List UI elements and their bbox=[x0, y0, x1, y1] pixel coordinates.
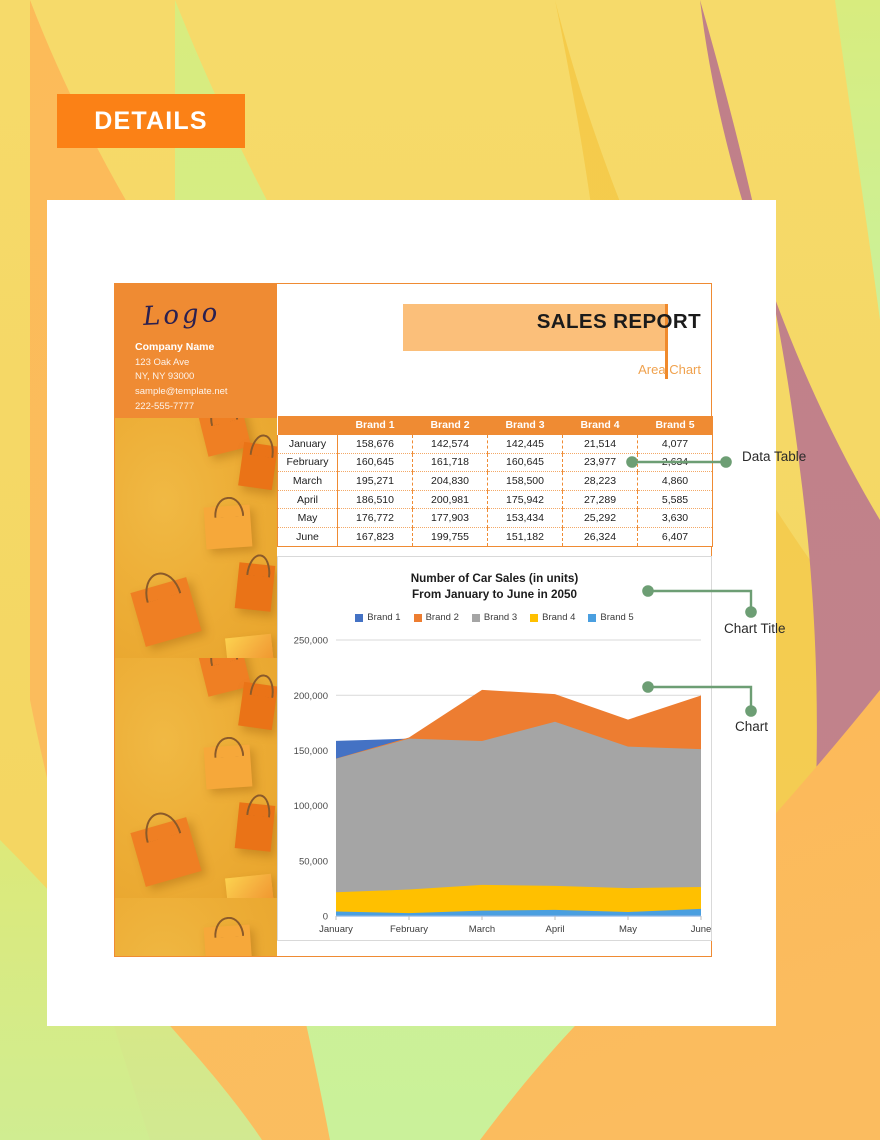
table-cell: 200,981 bbox=[413, 490, 488, 509]
table-row-label: January bbox=[278, 435, 338, 454]
table-col-header: Brand 4 bbox=[563, 416, 638, 435]
table-corner-cell bbox=[278, 416, 338, 435]
legend-item-brand-5[interactable]: Brand 5 bbox=[588, 612, 633, 623]
table-cell: 4,860 bbox=[638, 472, 713, 491]
legend-item-brand-4[interactable]: Brand 4 bbox=[530, 612, 575, 623]
report-sidebar: Logo Company Name 123 Oak Ave NY, NY 930… bbox=[115, 284, 277, 956]
table-col-header: Brand 5 bbox=[638, 416, 713, 435]
table-row: January 158,676 142,574 142,445 21,514 4… bbox=[278, 435, 713, 454]
area-chart-plot: 050,000100,000150,000200,000250,000Janua… bbox=[278, 634, 713, 942]
table-cell: 199,755 bbox=[413, 528, 488, 547]
x-axis-tick-label: January bbox=[319, 924, 353, 935]
table-col-header: Brand 1 bbox=[338, 416, 413, 435]
legend-swatch-icon bbox=[588, 614, 596, 622]
table-cell: 5,585 bbox=[638, 490, 713, 509]
shopping-bag-icon bbox=[235, 562, 276, 612]
shopping-bag-icon bbox=[130, 577, 201, 647]
legend-item-brand-2[interactable]: Brand 2 bbox=[414, 612, 459, 623]
table-cell: 153,434 bbox=[488, 509, 563, 528]
table-row: February 160,645 161,718 160,645 23,977 … bbox=[278, 453, 713, 472]
table-cell: 23,977 bbox=[563, 453, 638, 472]
table-row: March 195,271 204,830 158,500 28,223 4,8… bbox=[278, 472, 713, 491]
y-axis-tick-label: 150,000 bbox=[294, 746, 328, 757]
x-axis-tick-label: April bbox=[545, 924, 564, 935]
contact-email: sample@template.net bbox=[135, 385, 277, 400]
table-row-label: February bbox=[278, 453, 338, 472]
table-cell: 195,271 bbox=[338, 472, 413, 491]
table-cell: 158,676 bbox=[338, 435, 413, 454]
shopping-bag-icon bbox=[204, 744, 253, 789]
table-cell: 142,574 bbox=[413, 435, 488, 454]
x-axis-tick-label: February bbox=[390, 924, 428, 935]
table-cell: 176,772 bbox=[338, 509, 413, 528]
gift-box-icon bbox=[225, 874, 275, 898]
legend-label: Brand 4 bbox=[542, 612, 575, 623]
y-axis-tick-label: 100,000 bbox=[294, 801, 328, 812]
page-title: SALES REPORT bbox=[537, 310, 701, 334]
table-cell: 28,223 bbox=[563, 472, 638, 491]
shopping-bag-icon bbox=[204, 924, 253, 956]
details-badge: DETAILS bbox=[57, 94, 245, 148]
table-cell: 186,510 bbox=[338, 490, 413, 509]
table-cell: 142,445 bbox=[488, 435, 563, 454]
gift-box-icon bbox=[225, 634, 275, 658]
table-row-label: April bbox=[278, 490, 338, 509]
table-row: April 186,510 200,981 175,942 27,289 5,5… bbox=[278, 490, 713, 509]
table-cell: 6,407 bbox=[638, 528, 713, 547]
table-header-row: Brand 1 Brand 2 Brand 3 Brand 4 Brand 5 bbox=[278, 416, 713, 435]
report-subtitle: Area Chart bbox=[638, 362, 701, 377]
table-cell: 161,718 bbox=[413, 453, 488, 472]
chart-title: Number of Car Sales (in units) From Janu… bbox=[278, 571, 711, 603]
table-cell: 26,324 bbox=[563, 528, 638, 547]
brand-block: Logo Company Name 123 Oak Ave NY, NY 930… bbox=[115, 284, 277, 418]
logo-wordmark: Logo bbox=[142, 300, 220, 330]
shopping-bags-photo-tile bbox=[115, 418, 277, 658]
table-row: May 176,772 177,903 153,434 25,292 3,630 bbox=[278, 509, 713, 528]
shopping-bags-photo bbox=[115, 418, 277, 956]
x-axis-tick-label: June bbox=[691, 924, 712, 935]
legend-swatch-icon bbox=[472, 614, 480, 622]
table-col-header: Brand 3 bbox=[488, 416, 563, 435]
table-cell: 27,289 bbox=[563, 490, 638, 509]
table-cell: 160,645 bbox=[488, 453, 563, 472]
table-cell: 158,500 bbox=[488, 472, 563, 491]
table-cell: 3,630 bbox=[638, 509, 713, 528]
shopping-bag-icon bbox=[238, 682, 277, 730]
legend-item-brand-1[interactable]: Brand 1 bbox=[355, 612, 400, 623]
legend-swatch-icon bbox=[355, 614, 363, 622]
legend-label: Brand 2 bbox=[426, 612, 459, 623]
chart-panel: Number of Car Sales (in units) From Janu… bbox=[277, 556, 712, 941]
table-row-label: May bbox=[278, 509, 338, 528]
legend-swatch-icon bbox=[530, 614, 538, 622]
y-axis-tick-label: 0 bbox=[323, 912, 328, 923]
data-table: Brand 1 Brand 2 Brand 3 Brand 4 Brand 5 … bbox=[277, 416, 713, 547]
table-cell: 21,514 bbox=[563, 435, 638, 454]
legend-label: Brand 1 bbox=[367, 612, 400, 623]
table-cell: 4,077 bbox=[638, 435, 713, 454]
table-row: June 167,823 199,755 151,182 26,324 6,40… bbox=[278, 528, 713, 547]
shopping-bag-icon bbox=[204, 504, 253, 549]
company-name: Company Name bbox=[135, 340, 277, 356]
contact-phone: 222-555-7777 bbox=[135, 400, 277, 415]
table-cell: 2,634 bbox=[638, 453, 713, 472]
annotation-data-table: Data Table bbox=[742, 449, 806, 464]
table-head: Brand 1 Brand 2 Brand 3 Brand 4 Brand 5 bbox=[278, 416, 713, 435]
table-row-label: June bbox=[278, 528, 338, 547]
table-cell: 204,830 bbox=[413, 472, 488, 491]
details-badge-label: DETAILS bbox=[94, 107, 208, 136]
address-line-2: NY, NY 93000 bbox=[135, 370, 277, 385]
address-line-1: 123 Oak Ave bbox=[135, 356, 277, 371]
annotation-chart-title: Chart Title bbox=[724, 621, 786, 636]
table-cell: 177,903 bbox=[413, 509, 488, 528]
table-cell: 151,182 bbox=[488, 528, 563, 547]
shopping-bags-photo-tile bbox=[115, 898, 277, 956]
x-axis-tick-label: March bbox=[469, 924, 495, 935]
y-axis-tick-label: 250,000 bbox=[294, 636, 328, 647]
y-axis-tick-label: 200,000 bbox=[294, 691, 328, 702]
legend-item-brand-3[interactable]: Brand 3 bbox=[472, 612, 517, 623]
annotation-chart: Chart bbox=[735, 719, 768, 734]
table-col-header: Brand 2 bbox=[413, 416, 488, 435]
legend-label: Brand 3 bbox=[484, 612, 517, 623]
table-cell: 25,292 bbox=[563, 509, 638, 528]
table-row-label: March bbox=[278, 472, 338, 491]
legend-label: Brand 5 bbox=[600, 612, 633, 623]
chart-legend: Brand 1 Brand 2 Brand 3 Brand 4 Brand 5 bbox=[278, 612, 711, 623]
table-cell: 175,942 bbox=[488, 490, 563, 509]
table-body: January 158,676 142,574 142,445 21,514 4… bbox=[278, 435, 713, 547]
table-cell: 167,823 bbox=[338, 528, 413, 547]
legend-swatch-icon bbox=[414, 614, 422, 622]
table-cell: 160,645 bbox=[338, 453, 413, 472]
y-axis-tick-label: 50,000 bbox=[299, 856, 328, 867]
shopping-bag-icon bbox=[235, 802, 276, 852]
sales-report-document: Logo Company Name 123 Oak Ave NY, NY 930… bbox=[114, 283, 712, 957]
chart-title-line-1: Number of Car Sales (in units) bbox=[278, 571, 711, 587]
shopping-bag-icon bbox=[130, 817, 201, 887]
x-axis-tick-label: May bbox=[619, 924, 637, 935]
chart-title-line-2: From January to June in 2050 bbox=[278, 587, 711, 603]
shopping-bags-photo-tile bbox=[115, 658, 277, 898]
shopping-bag-icon bbox=[238, 442, 277, 490]
